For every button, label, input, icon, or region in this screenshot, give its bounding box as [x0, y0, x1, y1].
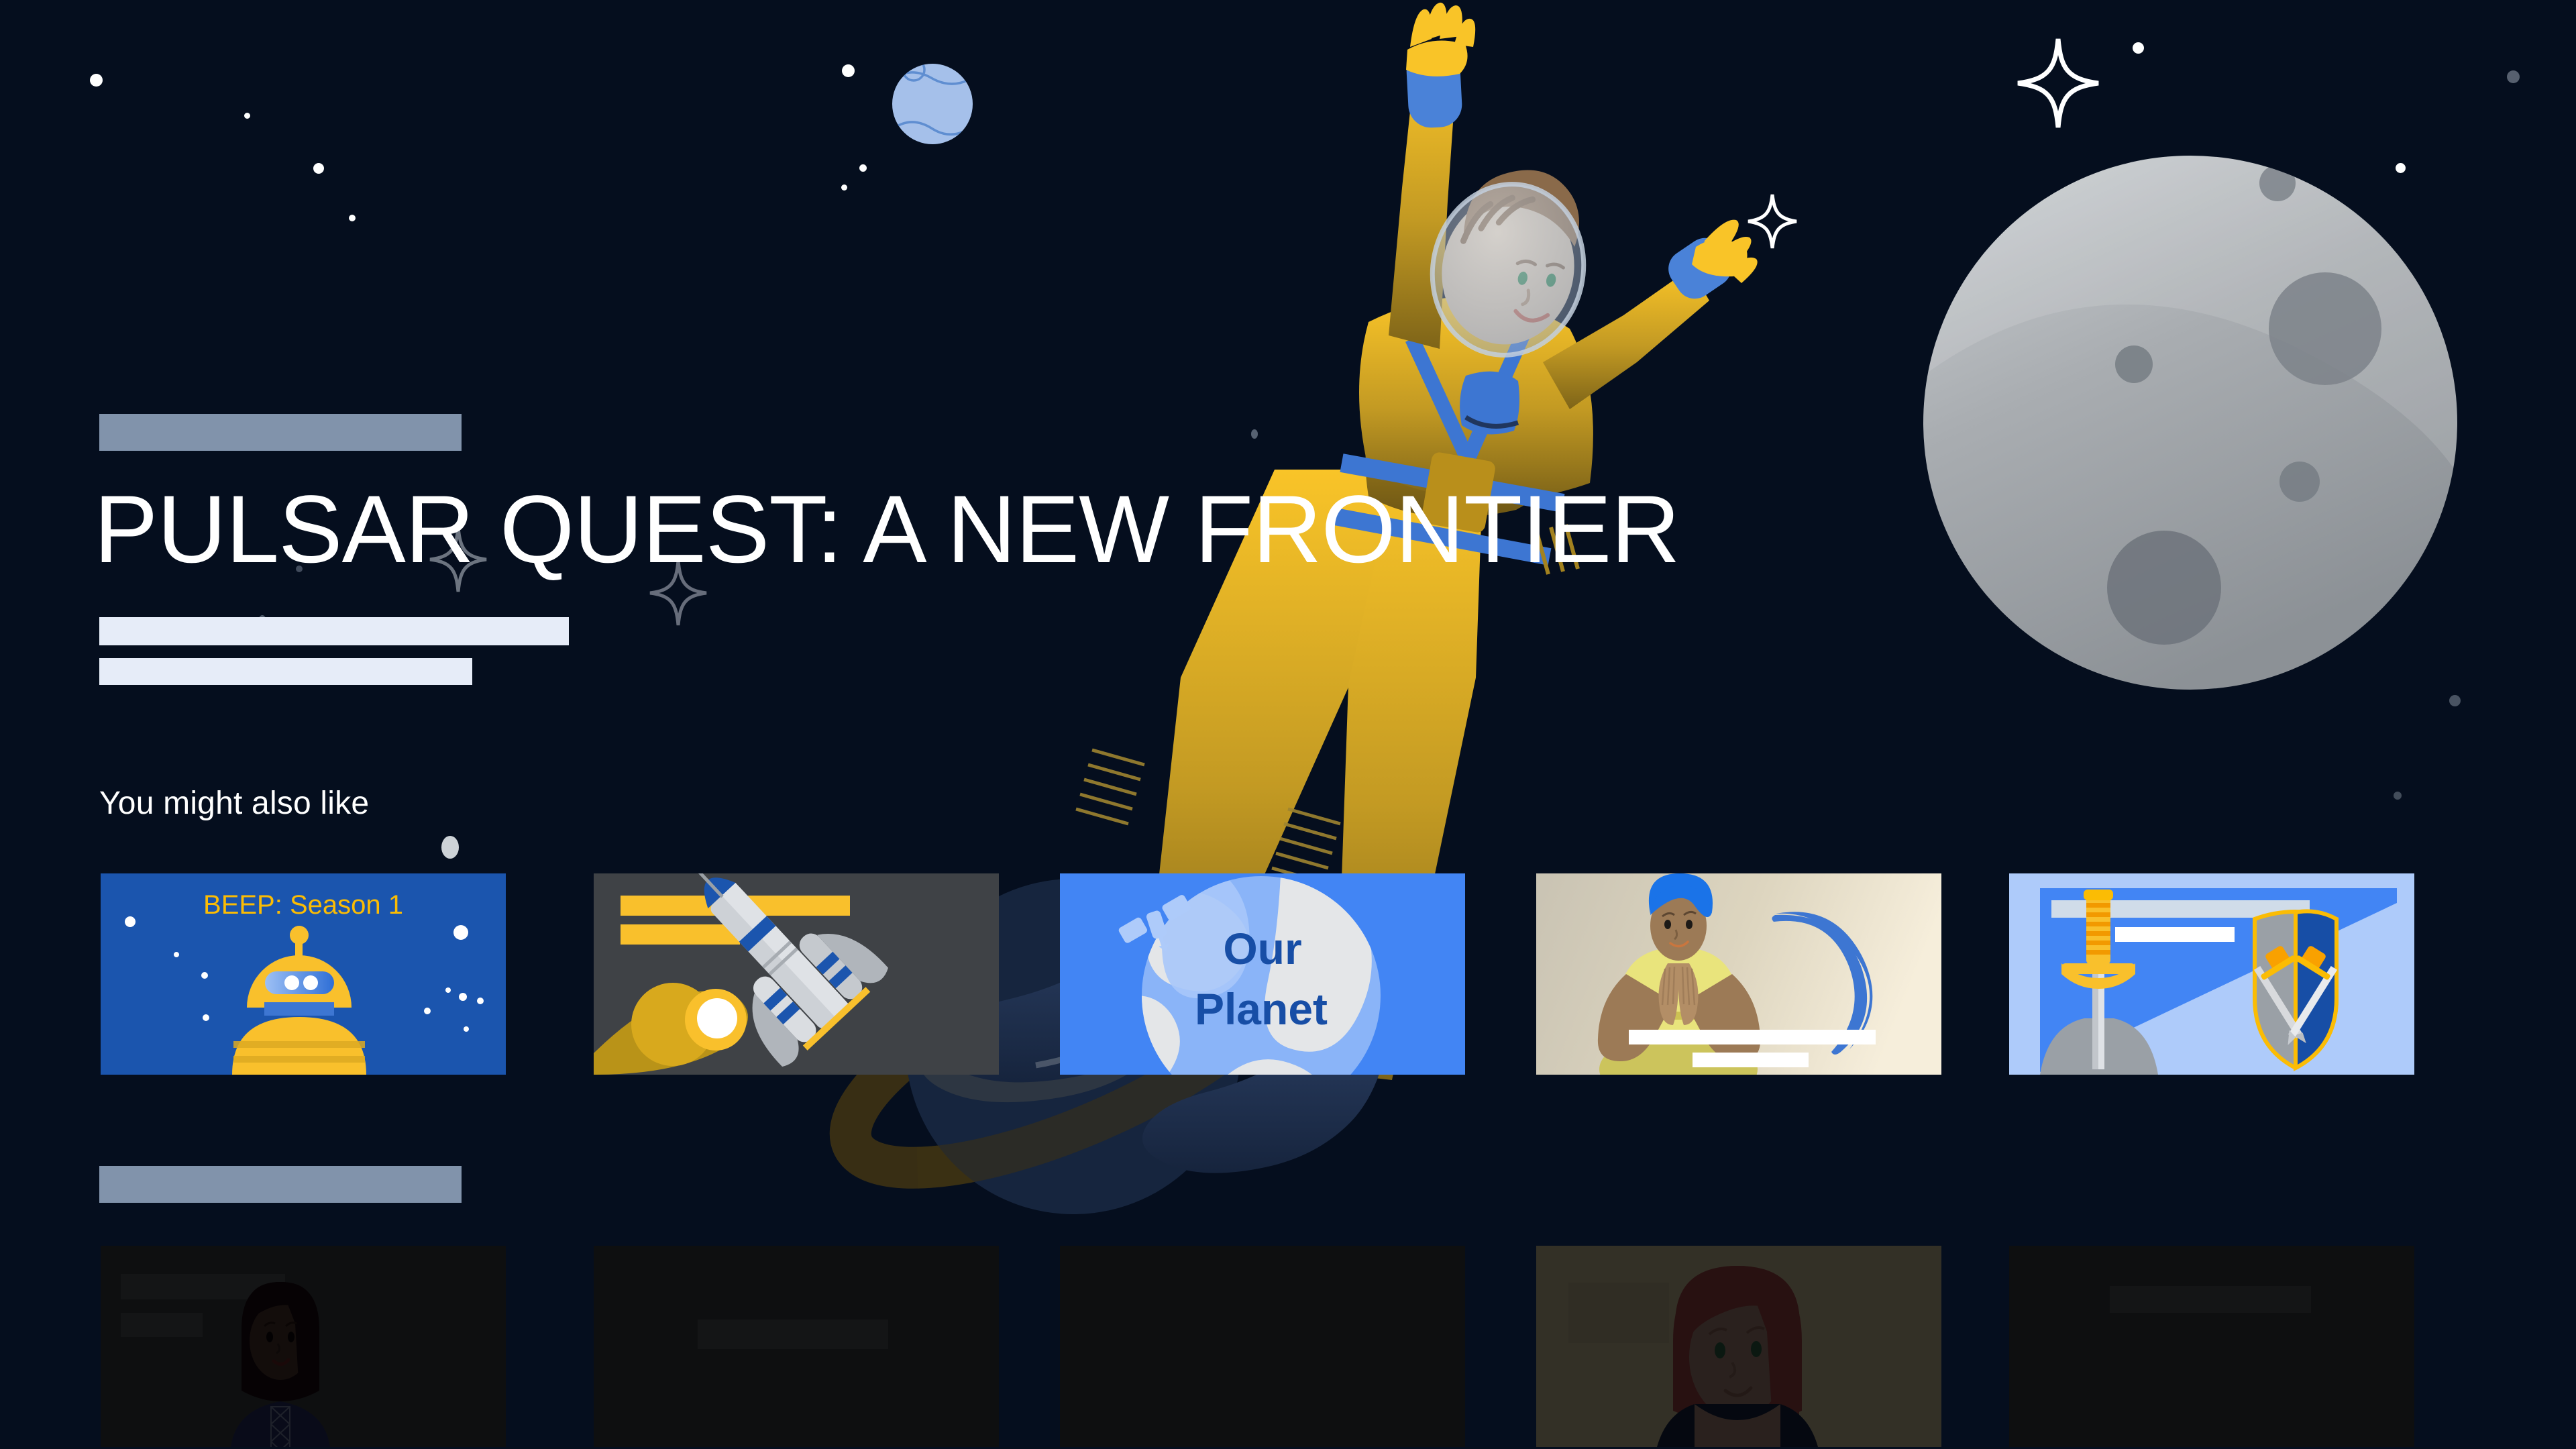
subtitle-placeholder-bar-1: [99, 617, 569, 645]
card-title: BEEP: Season 1: [101, 890, 506, 920]
card-placeholder-3[interactable]: [1060, 1246, 1465, 1447]
svg-text:Planet: Planet: [1195, 984, 1328, 1034]
card-woman-red-hair[interactable]: [1536, 1246, 1941, 1447]
page-title: PULSAR QUEST: A NEW FRONTIER: [94, 482, 2106, 578]
card-rocket-launch[interactable]: [594, 873, 999, 1075]
card-sword-and-shield[interactable]: [2009, 873, 2414, 1075]
subtitle-placeholder-bar-2: [99, 658, 472, 685]
eyebrow-dot: [441, 836, 459, 859]
eyebrow-placeholder-bar: [99, 414, 462, 451]
hero-page: PULSAR QUEST: A NEW FRONTIER You might a…: [0, 0, 2576, 1449]
rail-title-placeholder-bar: [99, 1166, 462, 1203]
card-our-planet[interactable]: Our Planet Our Planet: [1060, 873, 1465, 1075]
rail-title-recommendations: You might also like: [99, 785, 369, 822]
svg-text:Our: Our: [1223, 924, 1301, 973]
card-beep-season-1[interactable]: BEEP: Season 1: [101, 873, 506, 1075]
hero-block: PULSAR QUEST: A NEW FRONTIER: [0, 0, 2576, 778]
card-woman-portrait[interactable]: [101, 1246, 506, 1447]
card-placeholder-5[interactable]: [2009, 1246, 2414, 1447]
card-meditation[interactable]: [1536, 873, 1941, 1075]
card-placeholder-2[interactable]: [594, 1246, 999, 1447]
